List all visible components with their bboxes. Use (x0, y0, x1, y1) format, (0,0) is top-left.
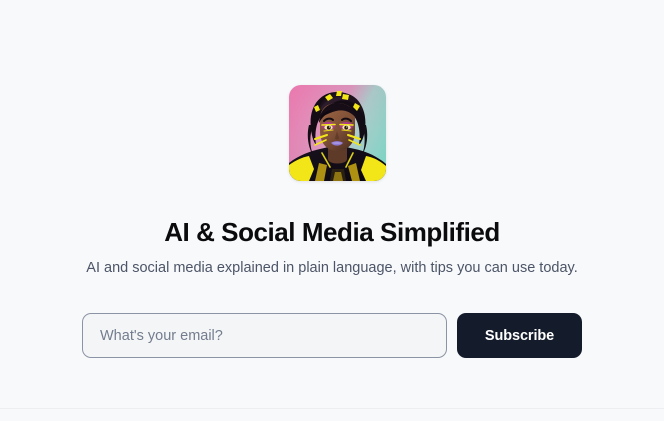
subscribe-form: Subscribe (82, 313, 582, 358)
publication-avatar (289, 85, 386, 181)
subscribe-button[interactable]: Subscribe (457, 313, 582, 358)
publication-avatar-icon (289, 85, 386, 181)
newsletter-signup-page: AI & Social Media Simplified AI and soci… (0, 0, 664, 421)
bottom-divider (0, 408, 664, 409)
page-subtitle: AI and social media explained in plain l… (0, 258, 664, 278)
email-input[interactable] (82, 313, 447, 358)
page-title: AI & Social Media Simplified (0, 216, 664, 248)
